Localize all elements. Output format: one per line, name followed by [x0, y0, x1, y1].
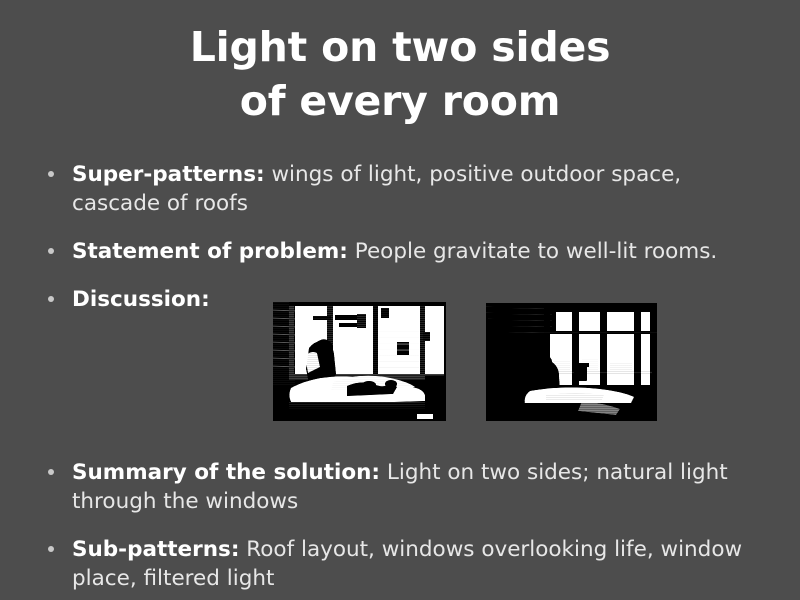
bullet-dot-icon	[48, 546, 54, 552]
bullet-super-patterns: Super-patterns: wings of light, positive…	[38, 160, 766, 218]
bullet-summary-of-the-solution: Summary of the solution: Light on two si…	[38, 458, 778, 516]
photo-interior-bed-graphic	[273, 302, 446, 421]
title-line-2: of every room	[0, 74, 800, 128]
title-line-1: Light on two sides	[0, 20, 800, 74]
page-title: Light on two sides of every room	[0, 20, 800, 128]
bullet-list-top: Super-patterns: wings of light, positive…	[38, 160, 766, 314]
bullet-dot-icon	[48, 248, 54, 254]
photo-window-room-graphic	[486, 303, 657, 421]
bullet-lead-discussion: Discussion:	[72, 287, 210, 312]
bullet-list-bottom: Summary of the solution: Light on two si…	[38, 458, 778, 593]
slide: Light on two sides of every room Super-p…	[0, 0, 800, 600]
bullet-dot-icon	[48, 469, 54, 475]
bullet-dot-icon	[48, 296, 54, 302]
bullet-sub-patterns: Sub-patterns: Roof layout, windows overl…	[38, 535, 778, 593]
bullet-lead-statement-of-problem: Statement of problem:	[72, 239, 348, 264]
bullet-lead-sub-patterns: Sub-patterns:	[72, 537, 239, 562]
bullet-lead-summary-of-the-solution: Summary of the solution:	[72, 460, 380, 485]
bullet-text-statement-of-problem: People gravitate to well-lit rooms.	[348, 239, 717, 264]
photo-window-room	[486, 303, 657, 421]
photo-interior-bed	[273, 302, 446, 421]
bullet-lead-super-patterns: Super-patterns:	[72, 162, 265, 187]
bullet-statement-of-problem: Statement of problem: People gravitate t…	[38, 237, 766, 266]
bullet-dot-icon	[48, 171, 54, 177]
